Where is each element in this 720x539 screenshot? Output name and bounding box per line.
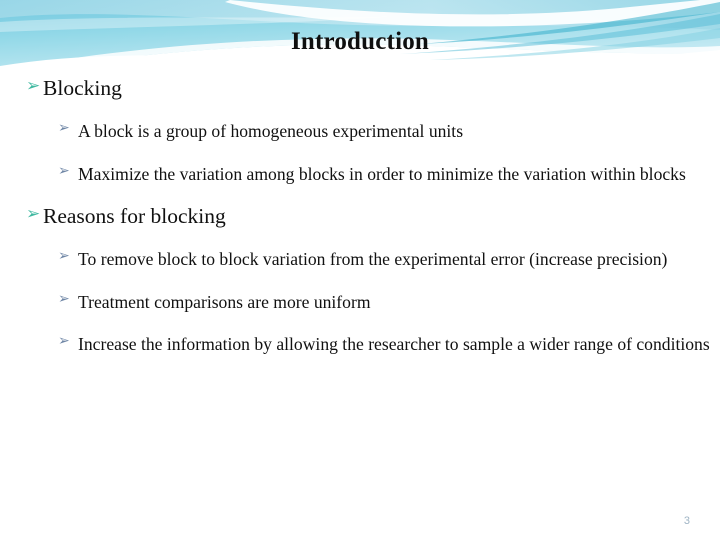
bullet-level2-item: ➢ To remove block to block variation fro…: [0, 245, 720, 274]
arrow-bullet-icon: ➢: [26, 203, 43, 226]
presentation-slide: Introduction ➢ Blocking ➢ A block is a g…: [0, 0, 720, 539]
slide-title: Introduction: [0, 28, 720, 56]
bullet-level2-label: A block is a group of homogeneous experi…: [78, 117, 710, 146]
bullet-level2-item: ➢ Maximize the variation among blocks in…: [0, 160, 720, 189]
bullet-level2-item: ➢ A block is a group of homogeneous expe…: [0, 117, 720, 146]
bullet-level1-blocking: ➢ Blocking: [0, 74, 720, 103]
arrow-bullet-icon: ➢: [58, 246, 78, 269]
bullet-level2-label: Treatment comparisons are more uniform: [78, 288, 710, 317]
arrow-bullet-icon: ➢: [58, 161, 78, 184]
section-spacer: [0, 188, 720, 198]
arrow-bullet-icon: ➢: [58, 331, 78, 354]
slide-body: ➢ Blocking ➢ A block is a group of homog…: [0, 70, 720, 359]
bullet-level2-item: ➢ Increase the information by allowing t…: [0, 330, 720, 359]
bullet-level2-label: To remove block to block variation from …: [78, 245, 710, 274]
bullet-level1-label: Reasons for blocking: [43, 202, 708, 231]
bullet-level1-reasons: ➢ Reasons for blocking: [0, 202, 720, 231]
bullet-level2-item: ➢ Treatment comparisons are more uniform: [0, 288, 720, 317]
bullet-level2-label: Maximize the variation among blocks in o…: [78, 160, 710, 189]
arrow-bullet-icon: ➢: [26, 75, 43, 98]
bullet-level1-label: Blocking: [43, 74, 708, 103]
arrow-bullet-icon: ➢: [58, 118, 78, 141]
arrow-bullet-icon: ➢: [58, 289, 78, 312]
bullet-level2-label: Increase the information by allowing the…: [78, 330, 710, 359]
slide-number: 3: [684, 515, 690, 527]
